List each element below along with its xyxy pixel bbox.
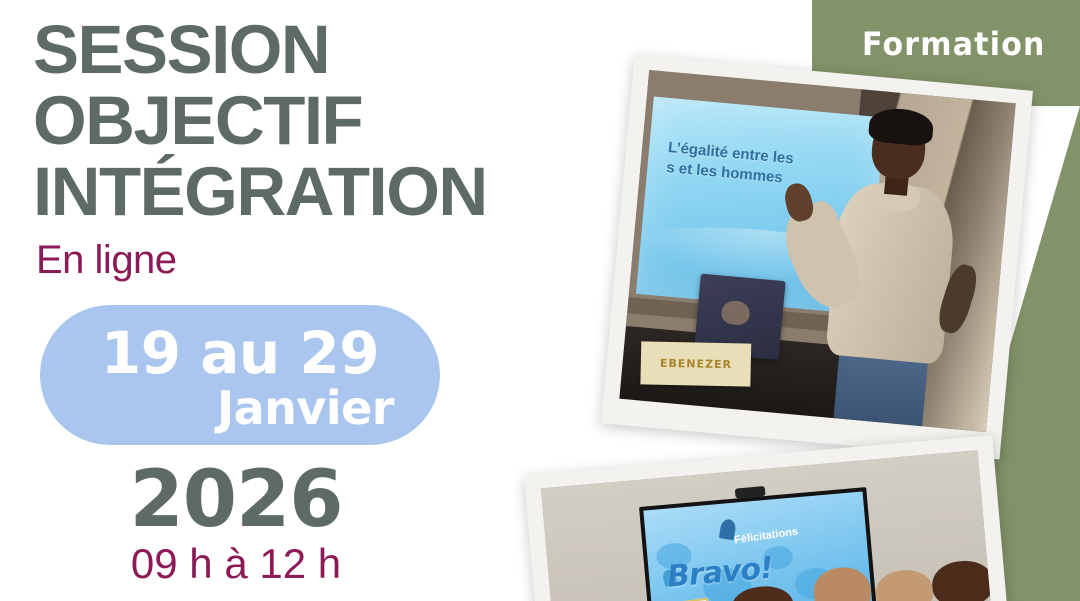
name-card: EBENEZER [641, 342, 752, 387]
date-month: Janvier [217, 381, 394, 435]
date-year: 2026 [0, 455, 472, 545]
group-scene: Félicitations Bravo! [541, 450, 994, 601]
date-range: 19 au 29 [40, 319, 440, 387]
person [874, 568, 937, 601]
person-head [730, 584, 795, 601]
lecture-scene: L’égalité entre les s et les hommes EBEN… [619, 70, 1015, 432]
subtitle-mode: En ligne [36, 238, 177, 283]
category-label: Formation [862, 26, 1046, 64]
screen-congrats-text: Félicitations [734, 526, 799, 547]
poster-canvas: Formation L’égalité entre les s et les h… [0, 0, 1080, 601]
presenter-hair [868, 107, 934, 147]
photo-lecture: L’égalité entre les s et les hommes EBEN… [619, 70, 1015, 432]
date-hours: 09 h à 12 h [0, 540, 472, 588]
photo-group: Félicitations Bravo! [541, 450, 994, 601]
person [930, 559, 994, 601]
person-head [812, 565, 873, 601]
date-badge: 19 au 29 Janvier [40, 305, 440, 445]
page-title: SESSION OBJECTIF INTÉGRATION [33, 14, 487, 227]
presenter-figure [788, 99, 993, 431]
photo-card-group: Félicitations Bravo! [524, 435, 1012, 601]
slide-text: L’égalité entre les s et les hommes [665, 138, 794, 190]
headline-line-1: SESSION [33, 14, 487, 85]
person [730, 584, 797, 601]
photo-card-lecture: L’égalité entre les s et les hommes EBEN… [601, 55, 1033, 460]
headline-line-3: INTÉGRATION [33, 156, 487, 227]
person [812, 565, 876, 601]
person-head [930, 559, 994, 601]
headline-line-2: OBJECTIF [33, 85, 487, 156]
name-card-text: EBENEZER [660, 357, 732, 372]
person-head [874, 568, 934, 601]
